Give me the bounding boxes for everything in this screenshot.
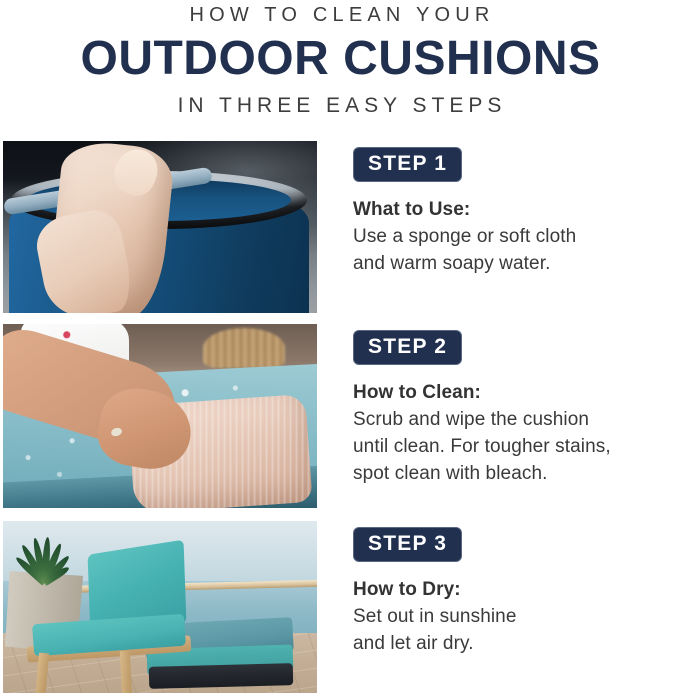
step-2-image [3,324,317,508]
step-1-badge: STEP 1 [353,147,462,182]
step-2-body-line-3: spot clean with bleach. [353,460,679,487]
wicker-basket [203,328,285,368]
step-2-body-line-2: until clean. For tougher stains, [353,433,679,460]
step-1-image [3,141,317,313]
step-3-text: STEP 3 How to Dry: Set out in sunshine a… [317,521,679,696]
step-1-text: STEP 1 What to Use: Use a sponge or soft… [317,141,679,316]
header-subkicker: IN THREE EASY STEPS [0,92,679,120]
header: HOW TO CLEAN YOUR OUTDOOR CUSHIONS IN TH… [0,0,679,120]
step-2-text: STEP 2 How to Clean: Scrub and wipe the … [317,324,679,509]
stacked-cushion-bottom [149,663,294,689]
page-title: OUTDOOR CUSHIONS [0,32,679,86]
step-2-title: How to Clean: [353,380,679,406]
step-3-body-line-2: and let air dry. [353,630,679,657]
step-3-title: How to Dry: [353,577,679,603]
step-1-body-line-1: Use a sponge or soft cloth [353,223,679,250]
step-row-3: STEP 3 How to Dry: Set out in sunshine a… [0,521,679,696]
step-3-badge: STEP 3 [353,527,462,562]
step-2-badge: STEP 2 [353,330,462,365]
step-3-image [3,521,317,693]
step-1-title: What to Use: [353,197,679,223]
step-3-body-line-1: Set out in sunshine [353,603,679,630]
agave-plant [9,527,81,583]
header-kicker: HOW TO CLEAN YOUR [0,2,679,28]
step-2-body-line-1: Scrub and wipe the cushion [353,406,679,433]
step-row-1: STEP 1 What to Use: Use a sponge or soft… [0,141,679,316]
step-row-2: STEP 2 How to Clean: Scrub and wipe the … [0,324,679,509]
step-1-body-line-2: and warm soapy water. [353,250,679,277]
